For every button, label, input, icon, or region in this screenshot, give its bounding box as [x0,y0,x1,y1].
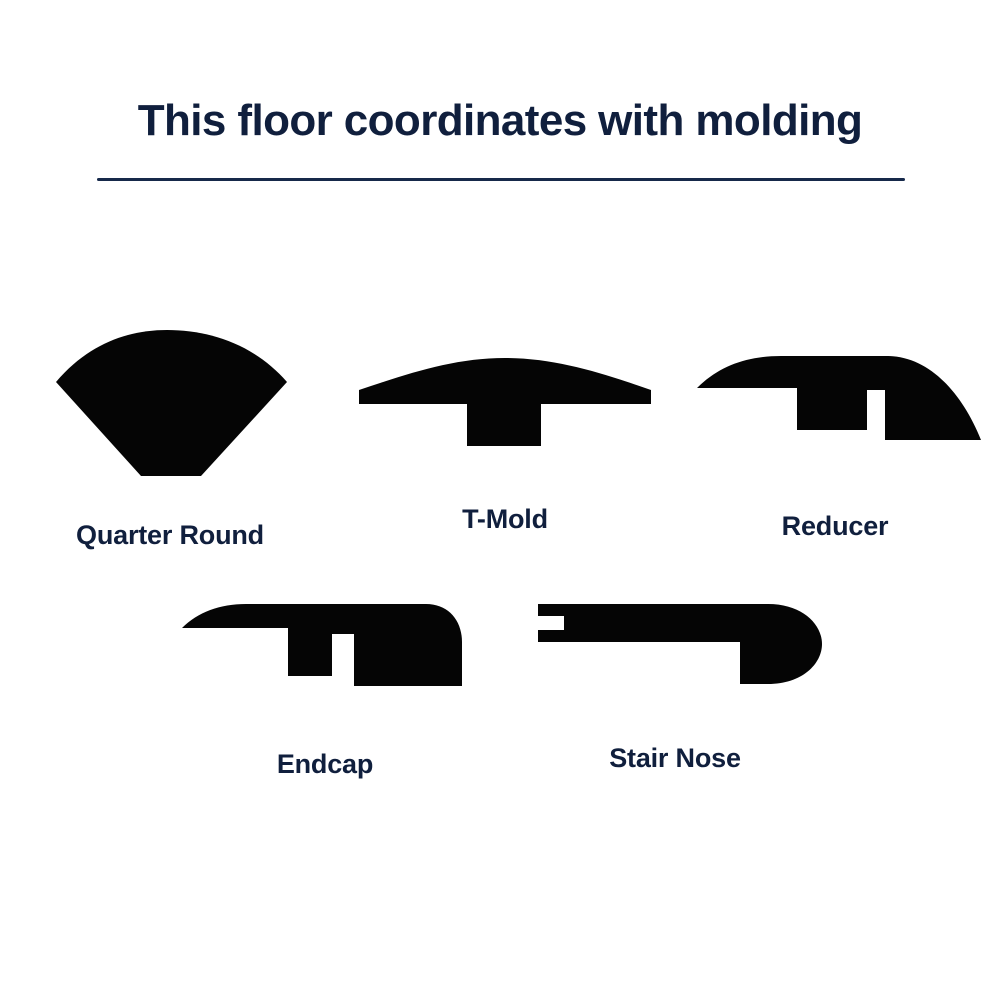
molding-card-reducer[interactable]: Reducer [670,330,1000,590]
page-header: This floor coordinates with molding [0,95,1000,147]
molding-row-top: Quarter Round T-Mold Reducer [0,330,1000,590]
molding-card-t-mold[interactable]: T-Mold [340,330,670,590]
quarter-round-illustration [49,330,299,490]
reducer-illustration [695,344,985,449]
molding-label-endcap: Endcap [277,749,373,780]
row-spacer-right [850,590,1000,840]
endcap-illustration [180,596,470,691]
row-spacer-left [0,590,150,840]
title-divider [97,178,905,181]
stair-nose-illustration [534,596,824,691]
molding-card-quarter-round[interactable]: Quarter Round [0,330,340,590]
page-title: This floor coordinates with molding [0,95,1000,147]
molding-card-endcap[interactable]: Endcap [150,590,500,840]
molding-label-t-mold: T-Mold [462,504,548,535]
molding-label-stair-nose: Stair Nose [609,743,741,774]
molding-grid: Quarter Round T-Mold Reducer [0,330,1000,840]
molding-card-stair-nose[interactable]: Stair Nose [500,590,850,840]
molding-poster: This floor coordinates with molding Quar… [0,0,1000,1000]
t-mold-illustration [357,352,653,448]
molding-row-bottom: Endcap Stair Nose [0,590,1000,840]
molding-label-reducer: Reducer [782,511,889,542]
molding-label-quarter-round: Quarter Round [76,520,264,551]
